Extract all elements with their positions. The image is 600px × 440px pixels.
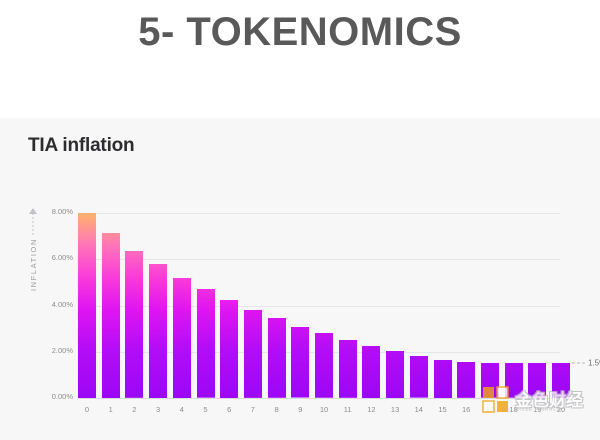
bar[interactable]: [149, 264, 167, 398]
bar-slot: 6: [220, 213, 238, 398]
value-annotation: 1.5%: [572, 359, 600, 368]
annotation-leader-line: [572, 363, 585, 364]
bar[interactable]: [173, 278, 191, 398]
bar-slot: 2: [125, 213, 143, 398]
bar-slot: 4: [173, 213, 191, 398]
bar[interactable]: [268, 318, 286, 398]
bar-slot: 18: [505, 213, 523, 398]
bar[interactable]: [291, 327, 309, 398]
bar-slot: 17: [481, 213, 499, 398]
y-axis-tick-label: 4.00%: [47, 300, 73, 309]
bar-slot: 1: [102, 213, 120, 398]
y-axis-tick-label: 6.00%: [47, 253, 73, 262]
annotation-label: 1.5%: [588, 359, 600, 368]
bar-slot: 13: [386, 213, 404, 398]
bar-slot: 12: [362, 213, 380, 398]
bar[interactable]: [220, 300, 238, 398]
y-axis-label: INFLATION: [29, 238, 38, 291]
bar[interactable]: [457, 362, 475, 398]
bar[interactable]: [362, 346, 380, 398]
bar-slot: 14: [410, 213, 428, 398]
bar[interactable]: [102, 233, 120, 398]
bar-slot: 15: [434, 213, 452, 398]
bar[interactable]: [244, 310, 262, 398]
bar-slot: 9: [291, 213, 309, 398]
slide-canvas: 5- TOKENOMICS TIA inflation INFLATION 8.…: [0, 0, 600, 440]
bar-slot: 11: [339, 213, 357, 398]
bar-slot: 10: [315, 213, 333, 398]
arrow-up-icon: [28, 206, 38, 236]
y-axis-tick-label: 0.00%: [47, 392, 73, 401]
bar[interactable]: [410, 356, 428, 398]
bar[interactable]: [339, 340, 357, 398]
bar-slot: 0: [78, 213, 96, 398]
y-axis-tick-label: 8.00%: [47, 207, 73, 216]
y-axis-caption-group: INFLATION: [22, 206, 44, 336]
bar[interactable]: [434, 360, 452, 398]
y-axis-tick-label: 2.00%: [47, 346, 73, 355]
bar-slot: 20: [552, 213, 570, 398]
bar[interactable]: [125, 251, 143, 398]
page-title: 5- TOKENOMICS: [0, 10, 600, 55]
bar-slot: 8: [268, 213, 286, 398]
bar[interactable]: [197, 289, 215, 398]
bar-slot: 3: [149, 213, 167, 398]
watermark-subtext: JINSE FINANCE: [515, 407, 561, 413]
bar[interactable]: [315, 333, 333, 398]
bars-group: 01234567891011121314151617181920 1.5%: [78, 213, 558, 398]
bar-slot: 5: [197, 213, 215, 398]
slide-header: 5- TOKENOMICS: [0, 0, 600, 118]
bar[interactable]: [386, 351, 404, 398]
jinse-logo-icon: [482, 386, 512, 416]
bar-slot: 16: [457, 213, 475, 398]
watermark: 金色财经 JINSE FINANCE: [482, 382, 594, 428]
bar-slot: 7: [244, 213, 262, 398]
bar[interactable]: [78, 213, 96, 398]
bar-slot: 19: [528, 213, 546, 398]
